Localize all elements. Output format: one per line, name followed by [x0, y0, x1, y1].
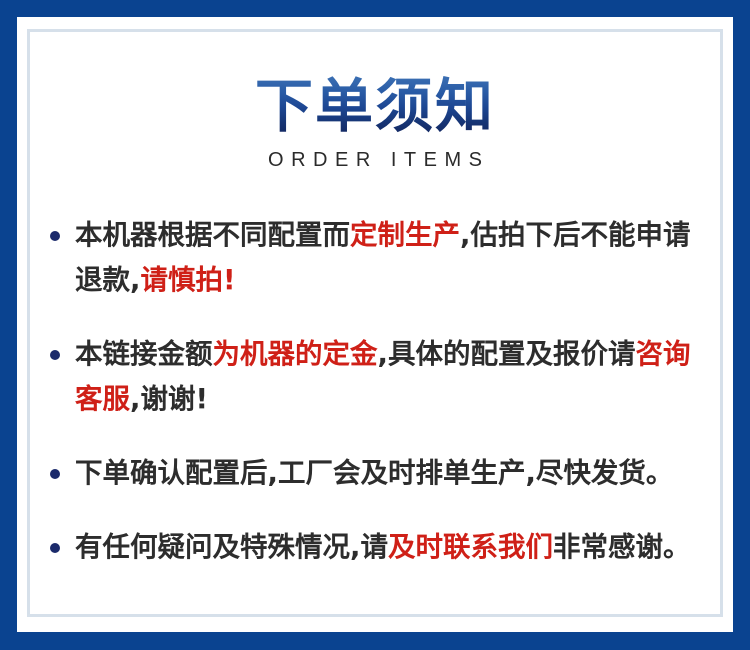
note-plain: 非常感谢。: [553, 531, 691, 563]
note-highlight: 定制生产: [350, 219, 460, 251]
note-text: 下单确认配置后,工厂会及时排单生产,尽快发货。: [75, 457, 673, 489]
note-plain: ,谢谢!: [130, 383, 208, 415]
note-item: 本链接金额为机器的定金,具体的配置及报价请咨询客服,谢谢!: [48, 332, 712, 422]
order-items-notice-card: 下单须知 ORDER ITEMS 本机器根据不同配置而定制生产,估拍下后不能申请…: [0, 0, 750, 650]
notes-list: 本机器根据不同配置而定制生产,估拍下后不能申请退款,请慎拍!本链接金额为机器的定…: [30, 213, 720, 570]
header: 下单须知 ORDER ITEMS: [30, 32, 720, 171]
note-item: 下单确认配置后,工厂会及时排单生产,尽快发货。: [48, 451, 712, 496]
note-item: 本机器根据不同配置而定制生产,估拍下后不能申请退款,请慎拍!: [48, 213, 712, 303]
card-content: 下单须知 ORDER ITEMS 本机器根据不同配置而定制生产,估拍下后不能申请…: [30, 32, 720, 614]
note-plain: 下单确认配置后,工厂会及时排单生产,尽快发货。: [75, 457, 673, 489]
bullet-circle-icon: [50, 350, 60, 360]
note-text: 本链接金额为机器的定金,具体的配置及报价请咨询客服,谢谢!: [75, 338, 690, 415]
note-plain: 有任何疑问及特殊情况,请: [75, 531, 388, 563]
bullet-circle-icon: [50, 543, 60, 553]
note-item: 有任何疑问及特殊情况,请及时联系我们非常感谢。: [48, 525, 712, 570]
note-plain: 本机器根据不同配置而: [75, 219, 350, 251]
bullet-circle-icon: [50, 231, 60, 241]
note-text: 有任何疑问及特殊情况,请及时联系我们非常感谢。: [75, 531, 690, 563]
note-highlight: 及时联系我们: [388, 531, 553, 563]
note-plain: 本链接金额: [75, 338, 213, 370]
page-subtitle: ORDER ITEMS: [30, 149, 720, 171]
note-highlight: 为机器的定金: [213, 338, 378, 370]
note-highlight: 请慎拍!: [140, 264, 235, 296]
note-plain: ,具体的配置及报价请: [378, 338, 636, 370]
note-text: 本机器根据不同配置而定制生产,估拍下后不能申请退款,请慎拍!: [75, 219, 690, 296]
bullet-circle-icon: [50, 469, 60, 479]
page-title: 下单须知: [255, 76, 495, 136]
